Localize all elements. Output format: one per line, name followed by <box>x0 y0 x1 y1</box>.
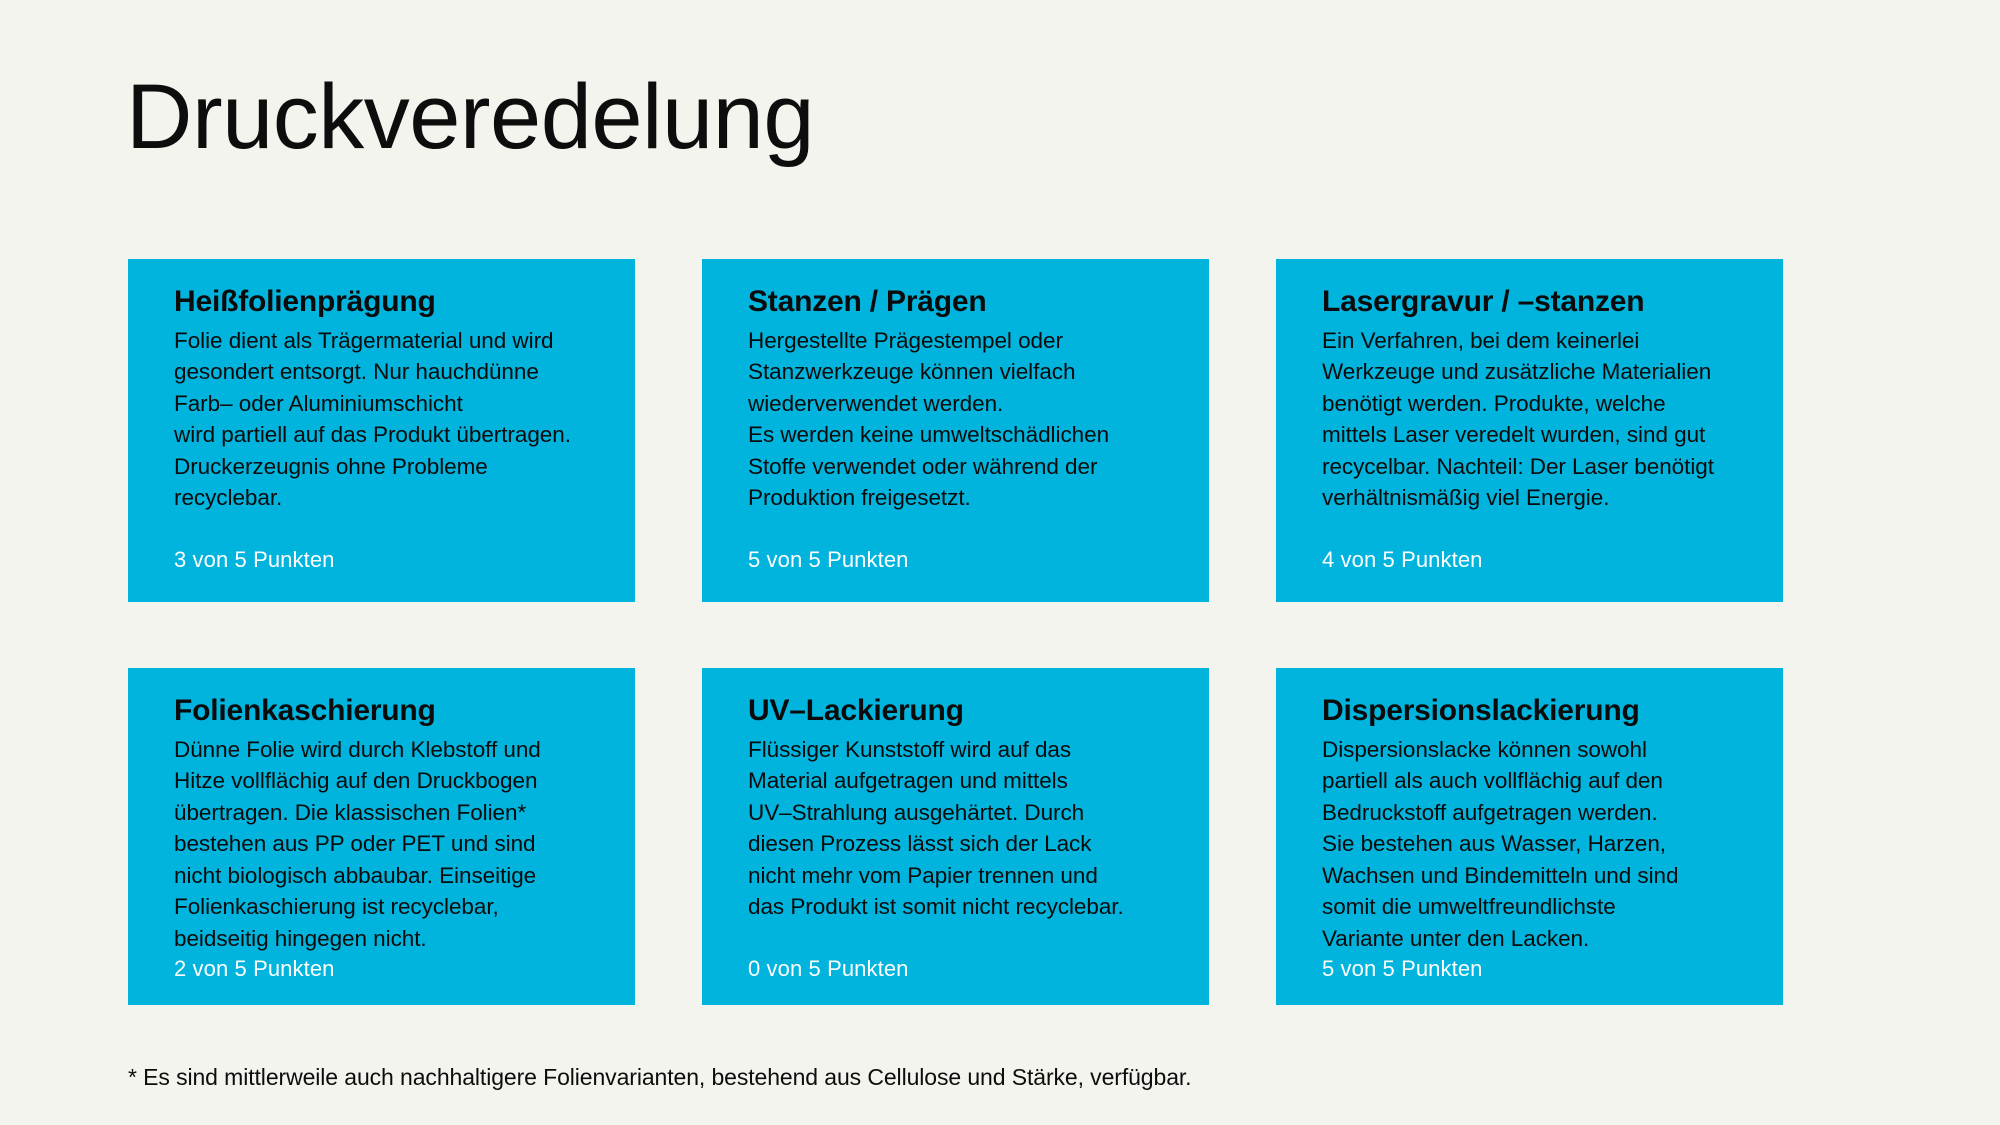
card-score: 2 von 5 Punkten <box>174 954 605 984</box>
card-body-line: Farb– oder Aluminiumschicht <box>174 388 605 420</box>
card-title: Folienkaschierung <box>174 694 605 728</box>
card-body-line: Folienkaschierung ist recyclebar, <box>174 891 605 923</box>
card-body-line: Material aufgetragen und mittels <box>748 765 1179 797</box>
card-body-line: nicht mehr vom Papier trennen und <box>748 860 1179 892</box>
card-body-line: Variante unter den Lacken. <box>1322 923 1753 955</box>
card-body-line: Dispersionslacke können sowohl <box>1322 734 1753 766</box>
card-body-line: Dünne Folie wird durch Klebstoff und <box>174 734 605 766</box>
card-score: 0 von 5 Punkten <box>748 954 1179 984</box>
card-body-line: Werkzeuge und zusätzliche Materialien <box>1322 356 1753 388</box>
card-score: 4 von 5 Punkten <box>1322 545 1753 575</box>
card-body-line: recyclebar. <box>174 482 605 514</box>
card-body-line: Bedruckstoff aufgetragen werden. <box>1322 797 1753 829</box>
card-folienkaschierung: Folienkaschierung Dünne Folie wird durch… <box>128 668 635 1005</box>
card-body-line: beidseitig hingegen nicht. <box>174 923 605 955</box>
card-score: 3 von 5 Punkten <box>174 545 605 575</box>
card-score: 5 von 5 Punkten <box>1322 954 1753 984</box>
card-body-line: Stoffe verwendet oder während der <box>748 451 1179 483</box>
card-body-line: Stanzwerkzeuge können vielfach <box>748 356 1179 388</box>
card-body-line: verhältnismäßig viel Energie. <box>1322 482 1753 514</box>
card-body-line: übertragen. Die klassischen Folien* <box>174 797 605 829</box>
card-dispersionslackierung: Dispersionslackierung Dispersionslacke k… <box>1276 668 1783 1005</box>
card-body-line: das Produkt ist somit nicht recyclebar. <box>748 891 1179 923</box>
card-body: Folie dient als Trägermaterial und wird … <box>174 325 605 514</box>
infographic-page: Druckveredelung Heißfolienprägung Folie … <box>0 0 2000 1125</box>
card-lasergravur-stanzen: Lasergravur / –stanzen Ein Verfahren, be… <box>1276 259 1783 602</box>
card-body-line: recycelbar. Nachteil: Der Laser benötigt <box>1322 451 1753 483</box>
card-body-line: Hergestellte Prägestempel oder <box>748 325 1179 357</box>
card-body: Flüssiger Kunststoff wird auf das Materi… <box>748 734 1179 923</box>
card-body-line: diesen Prozess lässt sich der Lack <box>748 828 1179 860</box>
card-body-line: partiell als auch vollflächig auf den <box>1322 765 1753 797</box>
card-body-line: nicht biologisch abbaubar. Einseitige <box>174 860 605 892</box>
card-body-line: wird partiell auf das Produkt übertragen… <box>174 419 605 451</box>
card-body: Hergestellte Prägestempel oder Stanzwerk… <box>748 325 1179 514</box>
footnote: * Es sind mittlerweile auch nachhaltiger… <box>128 1062 1191 1092</box>
card-body-line: somit die umweltfreundlichste <box>1322 891 1753 923</box>
card-title: Heißfolienprägung <box>174 285 605 319</box>
card-body: Dispersionslacke können sowohl partiell … <box>1322 734 1753 955</box>
card-body-line: wiederverwendet werden. <box>748 388 1179 420</box>
card-body-line: Hitze vollflächig auf den Druckbogen <box>174 765 605 797</box>
card-title: Dispersionslackierung <box>1322 694 1753 728</box>
card-score: 5 von 5 Punkten <box>748 545 1179 575</box>
card-body-line: mittels Laser veredelt wurden, sind gut <box>1322 419 1753 451</box>
card-title: UV–Lackierung <box>748 694 1179 728</box>
card-body-line: UV–Strahlung ausgehärtet. Durch <box>748 797 1179 829</box>
card-title: Lasergravur / –stanzen <box>1322 285 1753 319</box>
card-body-line: Wachsen und Bindemitteln und sind <box>1322 860 1753 892</box>
card-body-line: Sie bestehen aus Wasser, Harzen, <box>1322 828 1753 860</box>
card-body-line: gesondert entsorgt. Nur hauchdünne <box>174 356 605 388</box>
card-stanzen-praegen: Stanzen / Prägen Hergestellte Prägestemp… <box>702 259 1209 602</box>
card-body-line: benötigt werden. Produkte, welche <box>1322 388 1753 420</box>
card-body-line: Folie dient als Trägermaterial und wird <box>174 325 605 357</box>
card-heissfolienpraegung: Heißfolienprägung Folie dient als Träger… <box>128 259 635 602</box>
card-body-line: Druckerzeugnis ohne Probleme <box>174 451 605 483</box>
page-title: Druckveredelung <box>126 68 814 167</box>
card-body-line: Ein Verfahren, bei dem keinerlei <box>1322 325 1753 357</box>
card-grid: Heißfolienprägung Folie dient als Träger… <box>128 259 1784 1005</box>
card-body-line: Flüssiger Kunststoff wird auf das <box>748 734 1179 766</box>
card-body-line: Es werden keine umweltschädlichen <box>748 419 1179 451</box>
card-uv-lackierung: UV–Lackierung Flüssiger Kunststoff wird … <box>702 668 1209 1005</box>
card-body: Ein Verfahren, bei dem keinerlei Werkzeu… <box>1322 325 1753 514</box>
card-body-line: bestehen aus PP oder PET und sind <box>174 828 605 860</box>
card-title: Stanzen / Prägen <box>748 285 1179 319</box>
card-body-line: Produktion freigesetzt. <box>748 482 1179 514</box>
card-body: Dünne Folie wird durch Klebstoff und Hit… <box>174 734 605 955</box>
